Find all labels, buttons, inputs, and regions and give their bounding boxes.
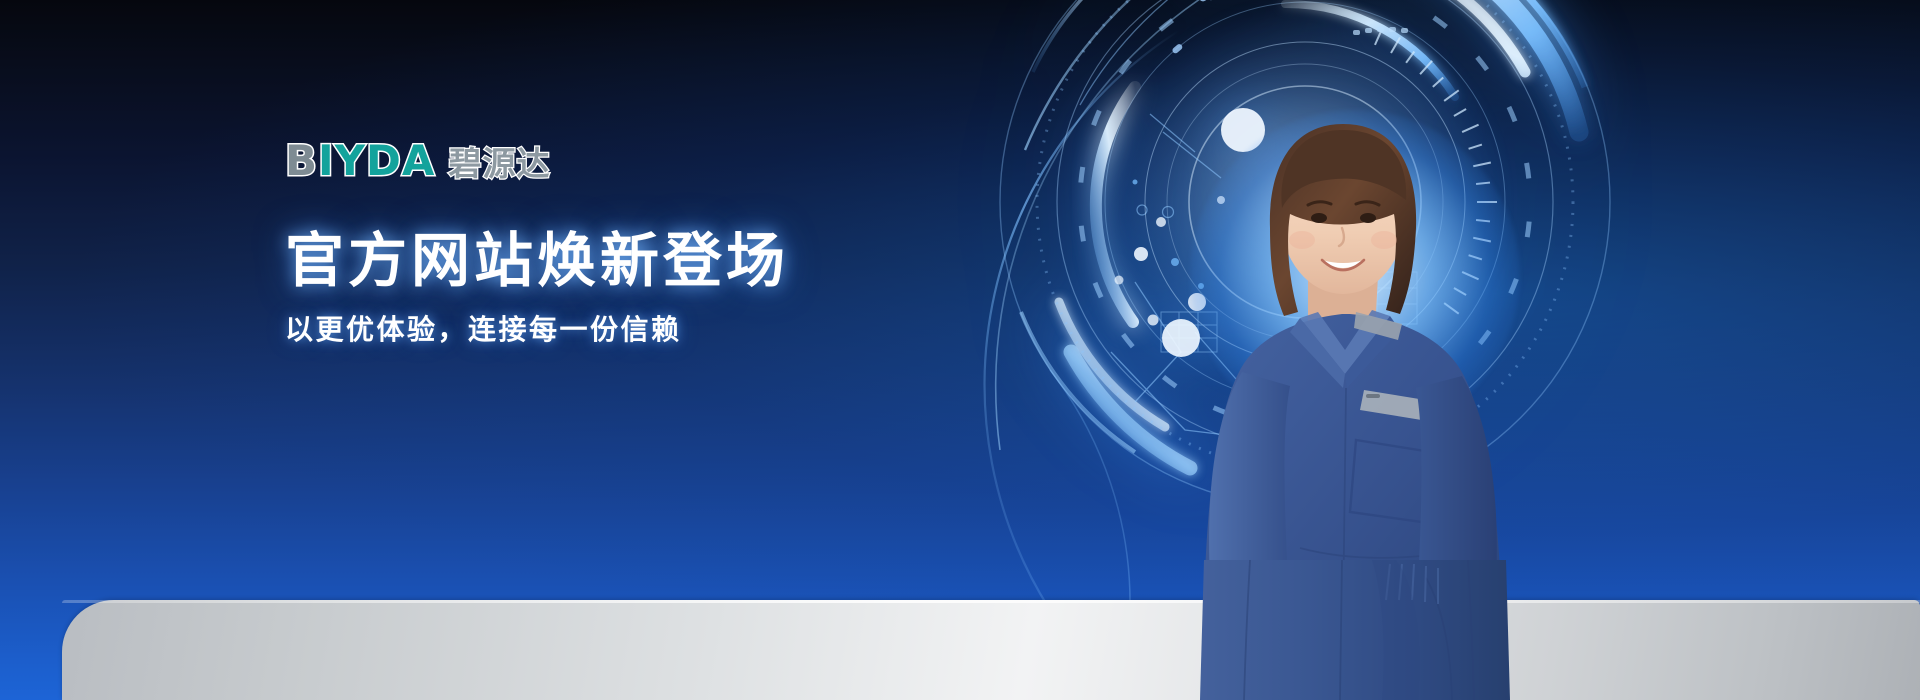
panel-top-highlight [62,600,1920,603]
page-subtitle: 以更优体验，连接每一份信赖 [285,313,1065,347]
avatar-lower-body [1150,560,1580,700]
logo-latin-text: BIYDA [285,140,435,182]
logo-chinese-text: 碧源达 [448,147,550,182]
hero-banner: BIYDA 碧源达 官方网站焕新登场 以更优体验，连接每一份信赖 [0,0,1920,700]
brand-logo[interactable]: BIYDA 碧源达 [285,136,1065,182]
logo-letters-iyda: IYDA [318,136,435,185]
bottom-content-panel [62,600,1920,700]
hero-copy: BIYDA 碧源达 官方网站焕新登场 以更优体验，连接每一份信赖 [285,136,1065,346]
logo-letter-b: B [285,136,318,185]
page-title: 官方网站焕新登场 [285,230,1065,293]
